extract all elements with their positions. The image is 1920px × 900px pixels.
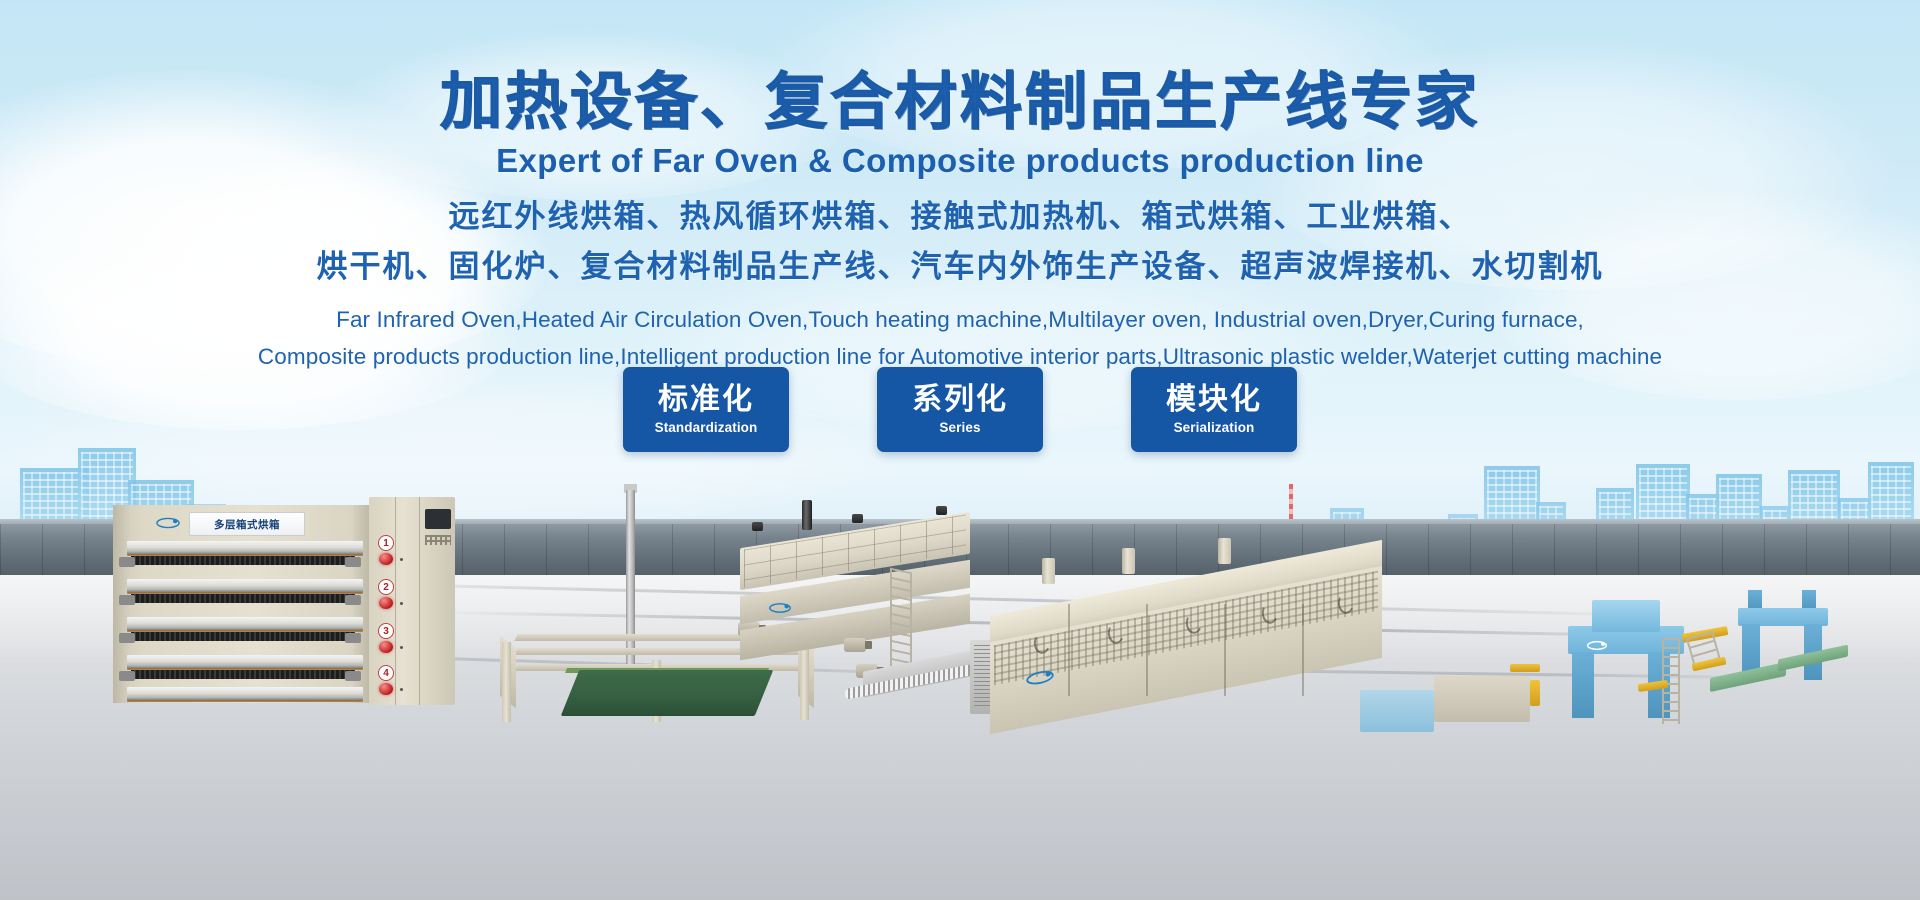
subtitle-chinese-line-2: 烘干机、固化炉、复合材料制品生产线、汽车内外饰生产设备、超声波焊接机、水切割机 bbox=[0, 242, 1920, 292]
subtitle-block: 远红外线烘箱、热风循环烘箱、接触式加热机、箱式烘箱、工业烘箱、 烘干机、固化炉、… bbox=[0, 192, 1920, 375]
badge-english-label: Standardization bbox=[655, 420, 758, 435]
exhaust-stack bbox=[1042, 558, 1055, 584]
indicator-lamp-1[interactable] bbox=[379, 553, 393, 565]
blue-press-head bbox=[1592, 600, 1660, 632]
feature-badges: 标准化 Standardization 系列化 Series 模块化 Seria… bbox=[0, 367, 1920, 452]
multilayer-box-oven: 多层箱式烘箱 1 bbox=[113, 505, 453, 710]
company-logo-icon bbox=[1586, 640, 1608, 651]
indicator-lamp-2[interactable] bbox=[379, 597, 393, 609]
badge-serialization[interactable]: 模块化 Serialization bbox=[1131, 367, 1297, 452]
company-logo-icon bbox=[155, 516, 181, 530]
layer-number-2: 2 bbox=[378, 579, 394, 595]
oven-nameplate-text: 多层箱式烘箱 bbox=[214, 517, 280, 532]
exhaust-stack bbox=[1122, 548, 1135, 574]
headline-block: 加热设备、复合材料制品生产线专家 Expert of Far Oven & Co… bbox=[0, 70, 1920, 180]
blue-equipment-line bbox=[1390, 530, 1910, 790]
robot-arm bbox=[1510, 664, 1540, 672]
exhaust-stack bbox=[802, 500, 812, 530]
badge-chinese-label: 系列化 bbox=[912, 384, 1008, 416]
layer-number-4: 4 bbox=[378, 665, 394, 681]
badge-chinese-label: 模块化 bbox=[1166, 384, 1262, 416]
indicator-lamp-4[interactable] bbox=[379, 683, 393, 695]
subtitle-chinese-line-1: 远红外线烘箱、热风循环烘箱、接触式加热机、箱式烘箱、工业烘箱、 bbox=[0, 192, 1920, 242]
layer-number-1: 1 bbox=[378, 535, 394, 551]
oven-control-panel[interactable]: 1 2 3 4 bbox=[369, 497, 455, 705]
beige-module bbox=[1434, 676, 1530, 722]
badge-english-label: Series bbox=[939, 420, 980, 435]
blue-press-leg bbox=[1572, 652, 1594, 718]
oven-nameplate: 多层箱式烘箱 bbox=[189, 512, 305, 536]
product-banner: 加热设备、复合材料制品生产线专家 Expert of Far Oven & Co… bbox=[0, 0, 1920, 900]
badge-standardization[interactable]: 标准化 Standardization bbox=[623, 367, 789, 452]
blue-station bbox=[1360, 690, 1434, 732]
robot-arm bbox=[1530, 680, 1540, 706]
tunnel-oven bbox=[990, 578, 1420, 728]
exhaust-stack bbox=[1218, 538, 1231, 564]
badge-series[interactable]: 系列化 Series bbox=[877, 367, 1043, 452]
panel-vent bbox=[425, 535, 451, 545]
company-logo-icon bbox=[768, 602, 792, 614]
subtitle-english-line-1: Far Infrared Oven,Heated Air Circulation… bbox=[0, 302, 1920, 338]
badge-chinese-label: 标准化 bbox=[658, 384, 754, 416]
badge-english-label: Serialization bbox=[1174, 420, 1255, 435]
indicator-lamp-3[interactable] bbox=[379, 641, 393, 653]
layer-number-3: 3 bbox=[378, 623, 394, 639]
oven-body: 多层箱式烘箱 bbox=[113, 505, 371, 703]
headline-english: Expert of Far Oven & Composite products … bbox=[0, 142, 1920, 180]
control-display-screen[interactable] bbox=[425, 509, 451, 529]
headline-chinese: 加热设备、复合材料制品生产线专家 bbox=[0, 70, 1920, 136]
